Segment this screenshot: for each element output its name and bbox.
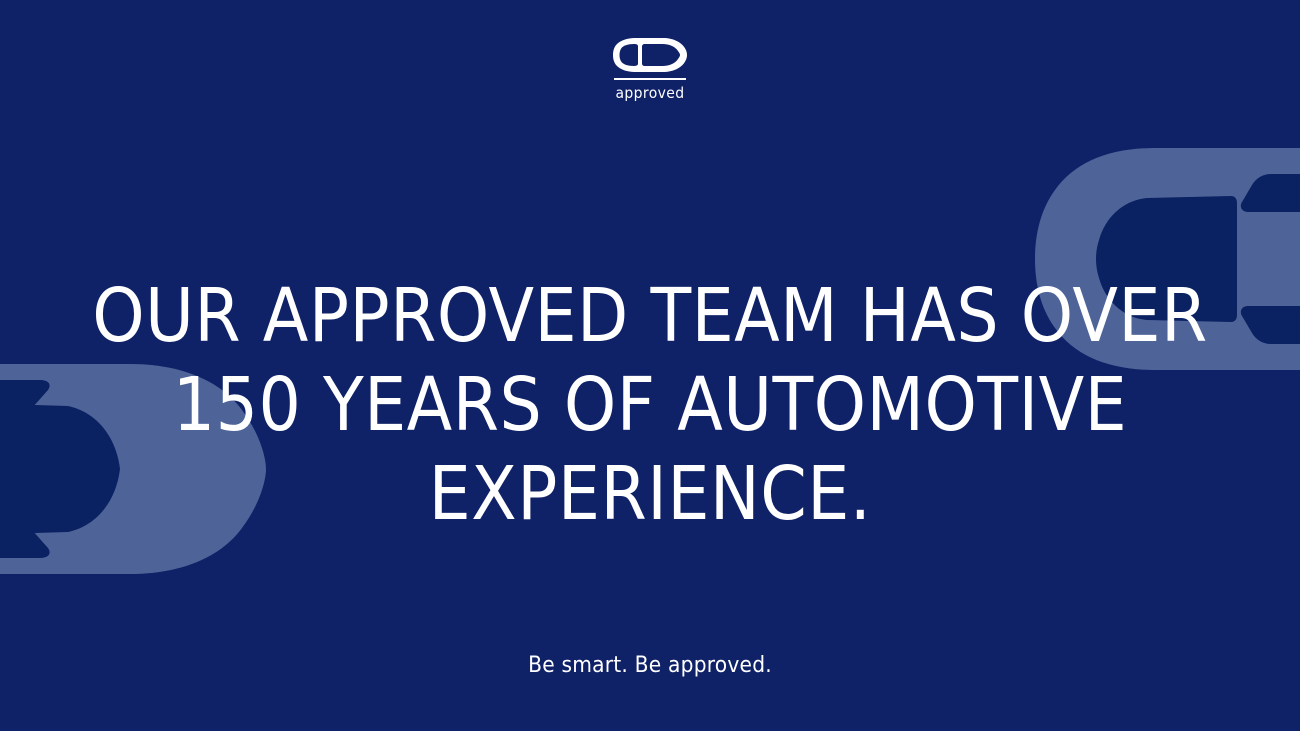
brand-logo: approved bbox=[0, 38, 1300, 102]
headline-line-2: 150 YEARS OF AUTOMOTIVE bbox=[0, 361, 1300, 450]
page-title: OUR APPROVED TEAM HAS OVER 150 YEARS OF … bbox=[0, 272, 1300, 539]
tagline: Be smart. Be approved. bbox=[0, 652, 1300, 678]
car-top-view-icon bbox=[613, 38, 687, 72]
brand-divider bbox=[614, 78, 686, 80]
headline-line-1: OUR APPROVED TEAM HAS OVER bbox=[0, 272, 1300, 361]
brand-wordmark: approved bbox=[615, 84, 684, 102]
slide-canvas: approved OUR APPROVED TEAM HAS OVER 150 … bbox=[0, 0, 1300, 731]
headline-line-3: EXPERIENCE. bbox=[0, 450, 1300, 539]
